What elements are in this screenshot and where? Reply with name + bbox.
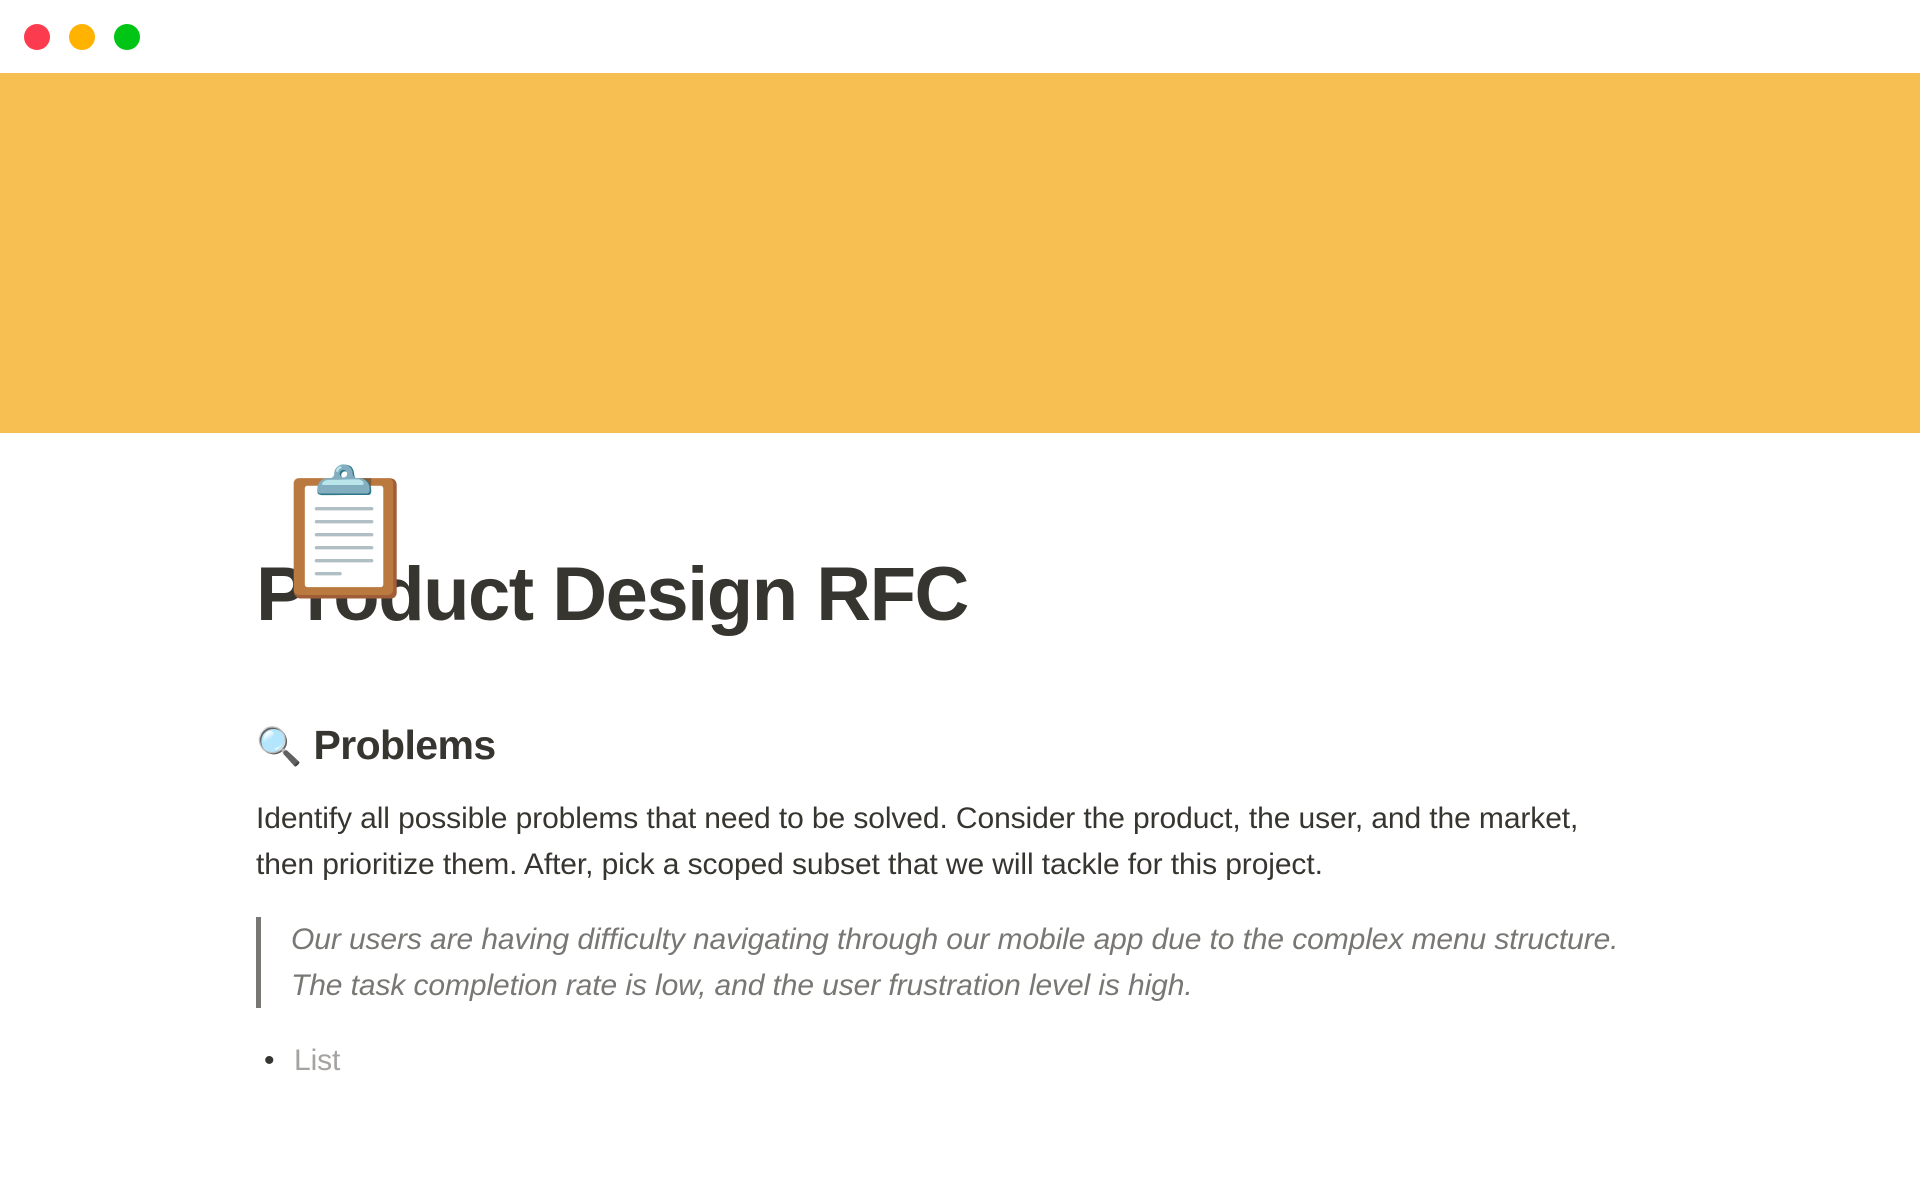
section-heading-problems[interactable]: 🔍 Problems (256, 721, 1770, 770)
section-heading-label: Problems (313, 721, 495, 770)
section-blockquote[interactable]: Our users are having difficulty navigati… (256, 917, 1656, 1008)
minimize-window-button[interactable] (69, 24, 95, 50)
page-title[interactable]: Product Design RFC (256, 555, 1770, 635)
maximize-window-button[interactable] (114, 24, 140, 50)
page-cover-banner[interactable] (0, 73, 1920, 433)
section-paragraph[interactable]: Identify all possible problems that need… (256, 796, 1626, 887)
list-bullet-icon: • (264, 1038, 294, 1083)
page-content-column: 📋 Product Design RFC 🔍 Problems Identify… (0, 555, 1920, 1083)
page-body: 📋 Product Design RFC 🔍 Problems Identify… (0, 555, 1920, 1083)
list-item-placeholder[interactable]: List (294, 1038, 340, 1083)
list-item[interactable]: • List (256, 1038, 1770, 1083)
close-window-button[interactable] (24, 24, 50, 50)
traffic-light-group (24, 24, 140, 50)
app-window: 📋 Product Design RFC 🔍 Problems Identify… (0, 0, 1920, 1200)
window-titlebar (0, 0, 1920, 73)
magnifying-glass-emoji-icon: 🔍 (256, 728, 301, 765)
clipboard-emoji-icon[interactable]: 📋 (268, 463, 408, 603)
